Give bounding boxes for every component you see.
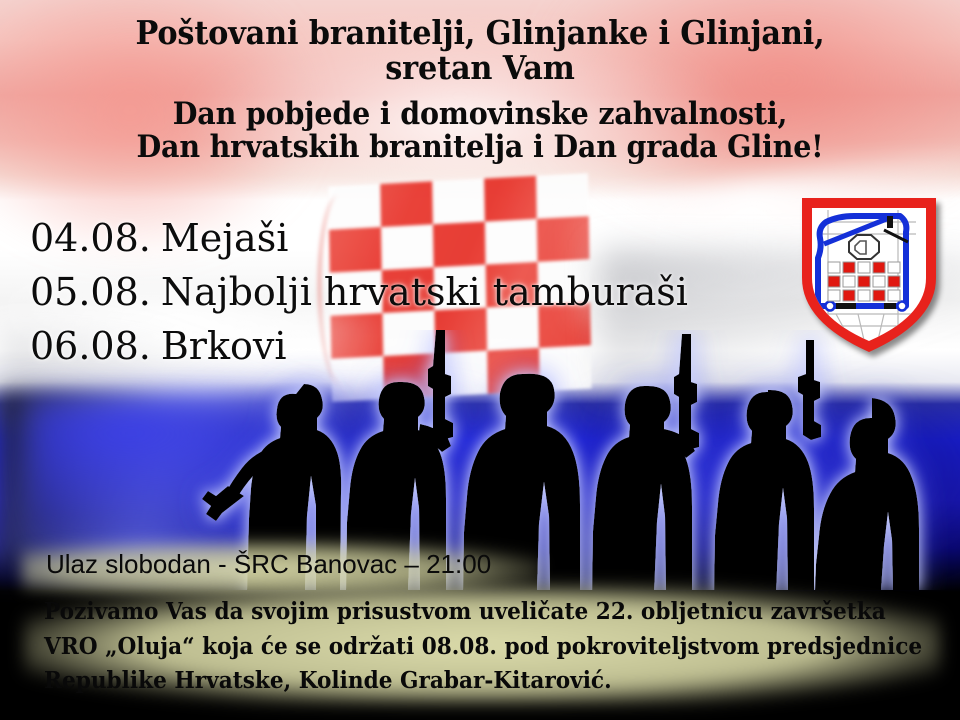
footer-line-2: VRO „Oluja“ koja će se održati 08.08. po…	[44, 630, 881, 665]
program-item-act: Brkovi	[161, 324, 287, 368]
program-list: 04.08.Mejaši 05.08.Najbolji hrvatski tam…	[30, 212, 800, 374]
headline-line-3: Dan pobjede i domovinske zahvalnosti,	[38, 98, 921, 131]
footer-banner: Pozivamo Vas da svojim prisustvom uvelič…	[24, 586, 940, 704]
headline-line-1: Poštovani branitelji, Glinjanke i Glinja…	[38, 16, 921, 51]
program-item: 04.08.Mejaši	[30, 212, 800, 266]
program-item-act: Mejaši	[161, 216, 289, 260]
footer-line-3: Republike Hrvatske, Kolinde Grabar-Kitar…	[44, 664, 881, 699]
headline-line-2: sretan Vam	[38, 51, 921, 86]
program-item-date: 04.08.	[30, 216, 151, 260]
venue-text: Ulaz slobodan - ŠRC Banovac – 21:00	[46, 549, 491, 580]
program-item-act: Najbolji hrvatski tamburaši	[161, 270, 688, 314]
program-item-date: 06.08.	[30, 324, 151, 368]
footer-paragraph: Pozivamo Vas da svojim prisustvom uvelič…	[44, 595, 934, 699]
program-item: 06.08.Brkovi	[30, 320, 800, 374]
poster-headline: Poštovani branitelji, Glinjanke i Glinja…	[0, 16, 960, 164]
headline-line-4: Dan hrvatskih branitelja i Dan grada Gli…	[38, 131, 921, 164]
coat-of-arms-of-glina	[798, 194, 940, 356]
footer-line-1: Pozivamo Vas da svojim prisustvom uvelič…	[44, 595, 881, 630]
poster-canvas: Poštovani branitelji, Glinjanke i Glinja…	[0, 0, 960, 720]
program-item: 05.08.Najbolji hrvatski tamburaši	[30, 266, 800, 320]
program-item-date: 05.08.	[30, 270, 151, 314]
